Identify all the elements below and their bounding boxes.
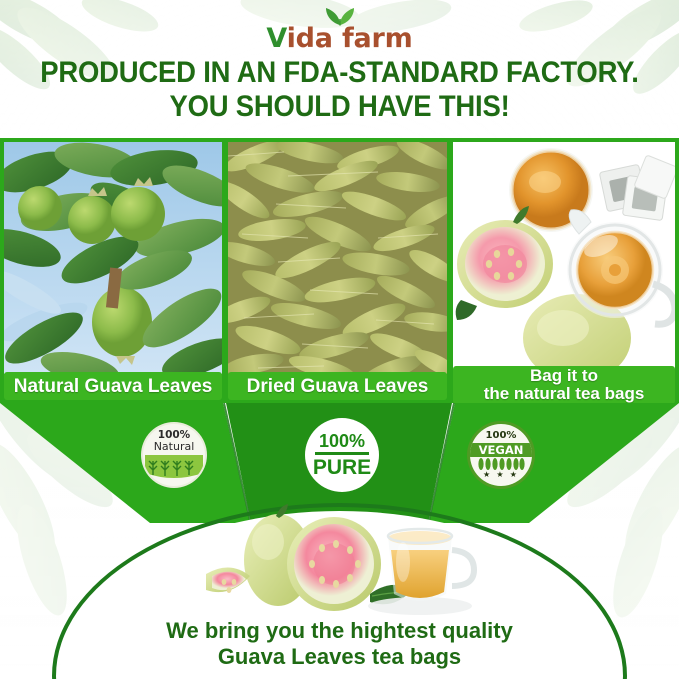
headline-line-1: PRODUCED IN AN FDA-STANDARD FACTORY.: [24, 56, 655, 90]
brand-name-initial: V: [266, 23, 286, 54]
caption-tea-bags: Bag it to the natural tea bags: [453, 366, 675, 404]
natural-badge-label: Natural: [154, 441, 195, 453]
tagline-line-1: We bring you the hightest quality: [0, 618, 679, 644]
photo-dried-guava-leaves: [228, 142, 447, 374]
photo-natural-guava-leaves: [4, 142, 222, 374]
page-title: PRODUCED IN AN FDA-STANDARD FACTORY. YOU…: [24, 56, 655, 123]
brand-logo: Vida farm: [0, 4, 679, 52]
natural-badge: 100% Natural: [143, 424, 205, 486]
wheat-field-icon: [145, 453, 203, 479]
pure-badge-percent: 100%: [319, 432, 365, 450]
pure-badge-label: PURE: [313, 457, 371, 478]
pure-badge: 100% PURE: [305, 418, 379, 492]
vegan-badge: 100% VEGAN ★ ★ ★: [470, 424, 532, 486]
headline-line-2: YOU SHOULD HAVE THIS!: [24, 90, 655, 124]
photo-tea-bags: [453, 142, 675, 374]
brand-name-rest: ida farm: [287, 23, 413, 54]
caption-tea-bags-line-2: the natural tea bags: [484, 385, 645, 403]
caption-natural-guava-leaves: Natural Guava Leaves: [4, 372, 222, 400]
caption-dried-guava-leaves: Dried Guava Leaves: [228, 372, 447, 400]
vegan-badge-stars: ★ ★ ★: [483, 471, 519, 479]
photo-strip: [0, 138, 679, 403]
caption-tea-bags-line-1: Bag it to: [484, 367, 645, 385]
leaf-row-icon: [475, 457, 527, 470]
infographic-canvas: Vida farm PRODUCED IN AN FDA-STANDARD FA…: [0, 0, 679, 679]
tagline-line-2: Guava Leaves tea bags: [0, 644, 679, 670]
pure-badge-divider: [315, 452, 369, 455]
vegan-badge-percent: 100%: [486, 431, 517, 441]
hero-product-image: [200, 498, 490, 616]
vegan-badge-label: VEGAN: [470, 443, 532, 457]
tagline: We bring you the hightest quality Guava …: [0, 618, 679, 670]
natural-badge-percent: 100%: [158, 430, 190, 441]
brand-name: Vida farm: [0, 25, 679, 52]
